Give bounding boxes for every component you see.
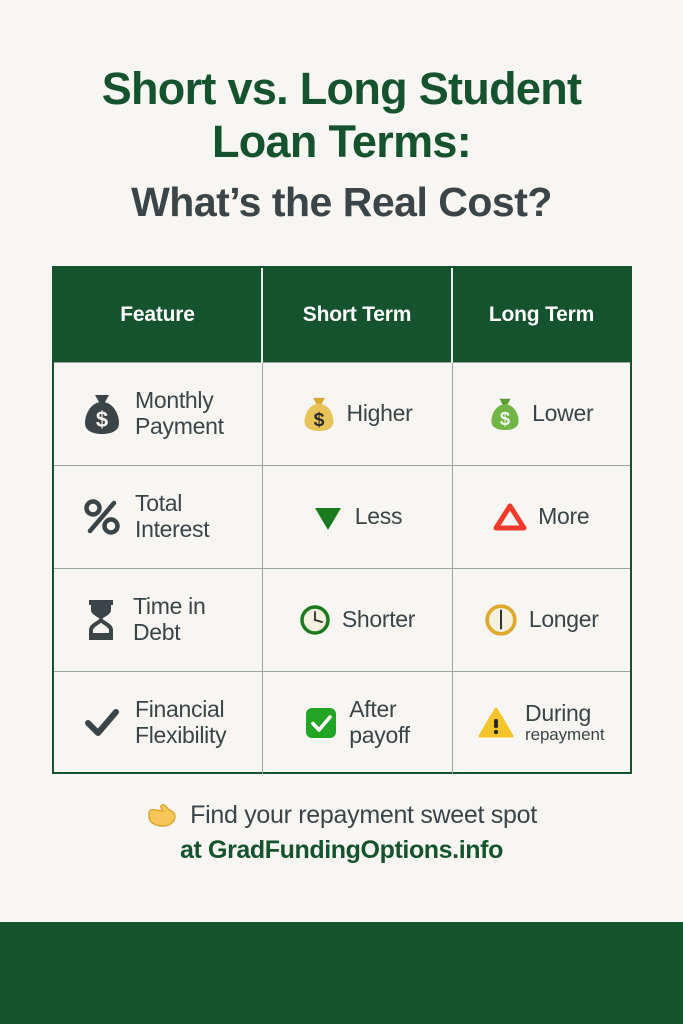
cell-short-financial-flexibility: After payoff [262,671,452,774]
cell-feature-time-in-debt: Time in Debt [54,568,262,671]
clock-gold-icon [484,603,518,637]
feature-label-line-2: Flexibility [135,722,226,748]
table-header-row: Feature Short Term Long Term [54,268,630,362]
long-term-value: Lower [532,401,593,426]
column-header-short-term: Short Term [262,268,452,362]
cta-text: Find your repayment sweet spot [190,801,537,830]
cell-long-monthly-payment: $ Lower [452,362,630,465]
clock-green-icon [299,604,331,636]
long-term-value-line-2: repayment [525,726,604,745]
table-row: Total Interest Less [54,465,630,568]
title-block: Short vs. Long Student Loan Terms: What’… [0,0,683,227]
call-to-action: Find your repayment sweet spot at GradFu… [0,800,683,865]
long-term-value: Longer [529,607,599,632]
feature-label-line-1: Monthly [135,387,213,413]
short-term-value-line-1: After [349,696,396,722]
percent-icon [82,495,122,539]
triangle-down-green-icon [312,501,344,533]
svg-text:$: $ [500,408,510,429]
feature-label-line-1: Time in [133,593,205,619]
cell-short-time-in-debt: Shorter [262,568,452,671]
hourglass-icon [82,597,120,643]
column-header-feature: Feature [54,268,262,362]
page-title-line-1: Short vs. Long Student [0,62,683,115]
svg-text:$: $ [313,408,324,430]
feature-label-line-2: Debt [133,619,180,645]
cell-long-total-interest: More [452,465,630,568]
comparison-table: Feature Short Term Long Term $ [52,266,632,774]
pointing-finger-right-icon [146,800,178,830]
feature-label-line-1: Total [135,490,182,516]
short-term-value: Higher [347,401,413,426]
page-subtitle: What’s the Real Cost? [0,178,683,227]
table-row: $ Monthly Payment [54,362,630,465]
infographic-page: Short vs. Long Student Loan Terms: What’… [0,0,683,1024]
long-term-value: More [538,504,589,529]
cell-short-monthly-payment: $ Higher [262,362,452,465]
feature-label-line-2: Payment [135,413,224,439]
money-bag-dark-icon: $ [82,392,122,436]
page-title-line-2: Loan Terms: [0,115,683,168]
long-term-value-line-1: During [525,700,591,726]
checkmark-icon [82,703,122,743]
feature-label-line-1: Financial [135,696,224,722]
short-term-value-line-2: payoff [349,722,409,748]
check-box-green-icon [304,706,338,740]
cell-feature-financial-flexibility: Financial Flexibility [54,671,262,774]
feature-label-line-2: Interest [135,516,209,542]
money-bag-green-icon: $ [489,396,521,432]
cta-at-prefix: at [180,836,208,864]
cta-website-link[interactable]: GradFundingOptions.info [208,836,503,864]
svg-text:$: $ [96,407,108,432]
short-term-value: Shorter [342,607,415,632]
bottom-brand-band [0,922,683,1024]
cell-long-time-in-debt: Longer [452,568,630,671]
cell-feature-total-interest: Total Interest [54,465,262,568]
column-header-long-term: Long Term [452,268,630,362]
cta-line-2[interactable]: at GradFundingOptions.info [0,836,683,865]
triangle-up-red-icon [493,501,527,533]
cell-long-financial-flexibility: During repayment [452,671,630,774]
short-term-value: Less [355,504,402,529]
table-row: Financial Flexibility Afte [54,671,630,774]
cta-line-1: Find your repayment sweet spot [0,800,683,830]
money-bag-gold-icon: $ [302,395,336,433]
cell-short-total-interest: Less [262,465,452,568]
warning-triangle-icon [478,706,514,740]
table-row: Time in Debt Shorter [54,568,630,671]
cell-feature-monthly-payment: $ Monthly Payment [54,362,262,465]
